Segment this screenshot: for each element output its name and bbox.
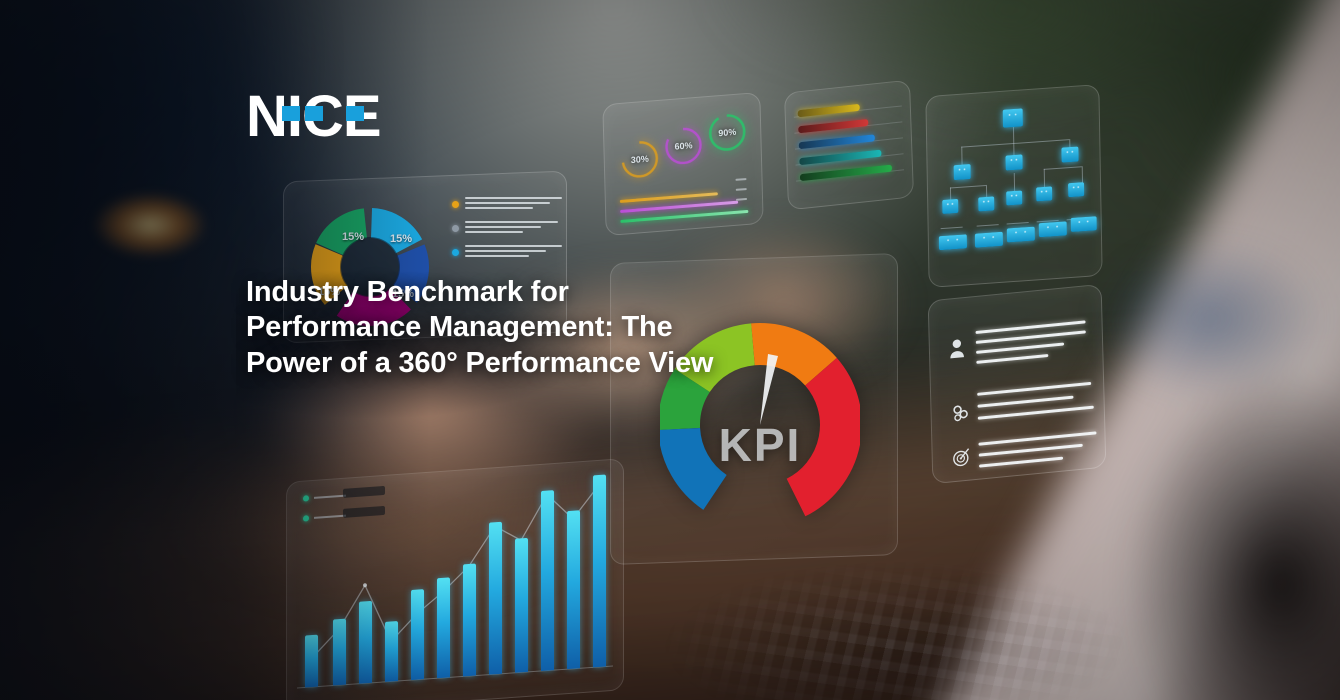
banner-canvas: 15% 15% 15% 15% 30% 60% xyxy=(0,0,1340,700)
logo-accent-square xyxy=(305,106,323,121)
ring-svg xyxy=(706,110,749,155)
nice-logo-svg: NICE xyxy=(246,86,398,148)
org-node xyxy=(1068,182,1084,197)
hbar-5 xyxy=(800,165,892,182)
org-chart-panel xyxy=(925,84,1102,288)
org-node-group xyxy=(1071,216,1097,232)
progress-ring-2: 60% xyxy=(662,123,705,168)
list-text-line xyxy=(978,406,1094,420)
logo-accent-square xyxy=(346,106,364,121)
org-node-root xyxy=(1003,108,1023,127)
page-title: Industry Benchmark for Performance Manag… xyxy=(246,275,746,381)
hbar-2 xyxy=(798,119,868,133)
progress-bar-1 xyxy=(620,192,718,203)
list-text-line xyxy=(979,457,1063,468)
bar xyxy=(463,564,476,677)
person-icon xyxy=(948,338,967,365)
hbar-1 xyxy=(798,104,860,117)
ring-svg xyxy=(618,137,661,182)
bar xyxy=(541,490,554,671)
progress-bar-3 xyxy=(620,210,748,223)
progress-ring-3: 90% xyxy=(706,110,749,155)
nice-logo[interactable]: NICE xyxy=(246,86,398,148)
logo-accent-square xyxy=(282,106,300,121)
list-text-line xyxy=(977,382,1091,396)
org-node xyxy=(1036,186,1052,201)
org-node xyxy=(1006,190,1022,205)
org-node-group xyxy=(939,234,967,250)
bar xyxy=(489,522,502,675)
legend-text-lines xyxy=(465,197,562,212)
legend-item xyxy=(452,197,562,212)
legend-dot-icon xyxy=(452,249,459,256)
ring-svg xyxy=(662,123,705,168)
rings-panel: 30% 60% 90% xyxy=(602,92,763,236)
profile-list-panel xyxy=(928,284,1107,484)
org-node xyxy=(942,199,958,214)
progress-ring-1: 30% xyxy=(618,137,661,182)
hbar-3 xyxy=(799,134,875,149)
legend-dot-icon xyxy=(452,225,459,232)
gears-icon xyxy=(949,401,972,430)
hbar-panel xyxy=(784,80,914,211)
list-text-line xyxy=(976,330,1086,344)
list-text-line xyxy=(976,354,1048,364)
legend-item xyxy=(452,221,562,236)
org-node xyxy=(978,196,994,211)
legend-text-lines xyxy=(465,221,562,236)
bar xyxy=(437,577,450,678)
org-node xyxy=(954,164,971,180)
list-text-line xyxy=(979,444,1083,457)
bar xyxy=(515,538,528,673)
org-node xyxy=(1005,154,1022,170)
target-icon xyxy=(951,445,974,474)
list-text-line xyxy=(977,396,1073,408)
list-text-line xyxy=(976,342,1064,353)
bar xyxy=(593,474,606,667)
hbar-4 xyxy=(799,150,881,166)
org-node-group xyxy=(1039,221,1067,237)
org-node-group xyxy=(975,232,1003,248)
bar xyxy=(567,510,580,669)
legend-dot-icon xyxy=(452,201,459,208)
org-node xyxy=(1061,146,1078,162)
org-node-group xyxy=(1007,227,1035,243)
